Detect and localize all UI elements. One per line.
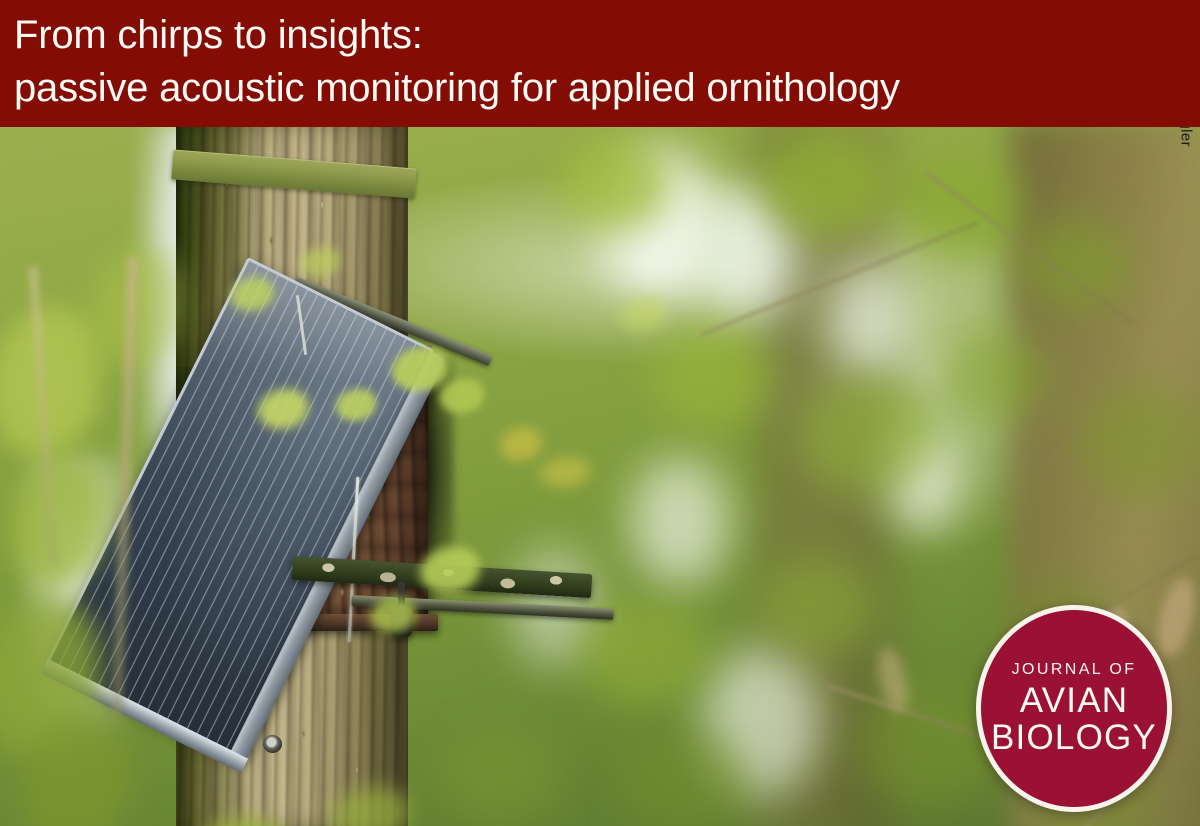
journal-cover: From chirps to insights: passive acousti…	[0, 0, 1200, 826]
bokeh-leaf-blob	[1080, 387, 1200, 497]
bokeh-leaf-blob	[560, 137, 670, 232]
bokeh-highlight	[830, 267, 910, 377]
bokeh-leaf-blob	[940, 327, 1050, 422]
bokeh-leaf-blob	[650, 327, 770, 427]
bokeh-leaf-blob	[760, 557, 875, 657]
title-banner: From chirps to insights: passive acousti…	[0, 0, 1200, 127]
foreground-leaf	[0, 307, 100, 457]
journal-logo: JOURNAL OF AVIAN BIOLOGY	[976, 605, 1172, 812]
journal-logo-line-3: BIOLOGY	[991, 719, 1157, 756]
bokeh-leaf-blob	[760, 127, 890, 237]
banner-title-line-2: passive acoustic monitoring for applied …	[14, 66, 900, 111]
bokeh-leaf-blob	[1020, 217, 1130, 312]
journal-logo-line-2: AVIAN	[1020, 683, 1128, 719]
bokeh-leaf-blob	[800, 377, 940, 492]
photo-credit: Photo: Jan O. Engler	[1177, 127, 1194, 147]
journal-logo-line-1: JOURNAL OF	[1012, 661, 1137, 679]
foreground-sprig-leaf	[620, 297, 666, 331]
banner-title-line-1: From chirps to insights:	[14, 13, 423, 58]
bokeh-leaf-blob	[900, 157, 1020, 257]
cover-photograph: Photo: Jan O. Engler JOURNAL OF AVIAN BI…	[0, 127, 1200, 826]
bokeh-leaf-blob	[620, 727, 750, 826]
